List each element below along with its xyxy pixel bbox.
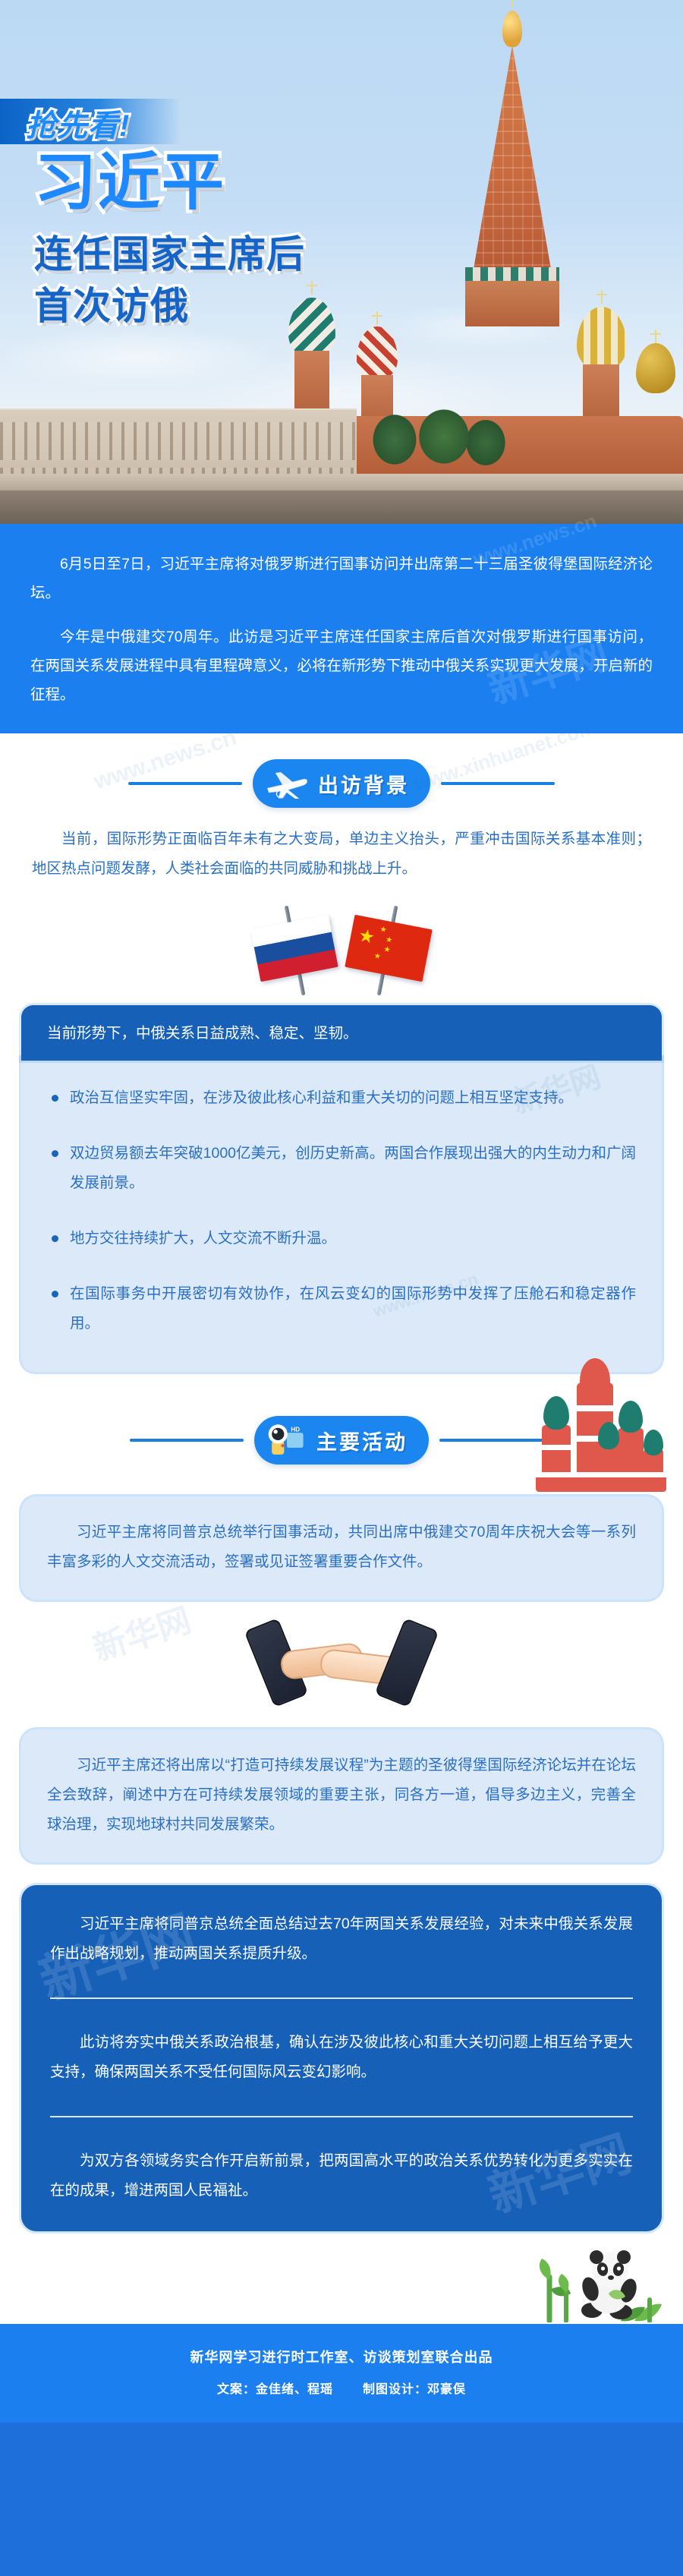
- divider-right: [441, 782, 555, 785]
- section-header-background: www.news.cn www.xinhuanet.com 出访背景: [0, 733, 683, 821]
- ground-strip: [0, 490, 683, 524]
- svg-text:HD: HD: [291, 1427, 300, 1433]
- section-title: 出访背景: [318, 769, 409, 799]
- list-item: 在国际事务中开展密切有效协作，在风云变幻的国际形势中发挥了压舱石和稳定器作用。: [47, 1279, 636, 1338]
- section-pill-activities[interactable]: HD 主要活动: [254, 1416, 429, 1465]
- airplane-icon: [265, 767, 309, 800]
- relations-callout: 当前形势下，中俄关系日益成熟、稳定、坚韧。: [21, 1005, 662, 1061]
- activities-card-2: 习近平主席还将出席以“打造可持续发展议程”为主题的圣彼得堡国际经济论坛并在论坛全…: [21, 1729, 662, 1862]
- footer-credits: 文案：金佳绪、程瑶 制图设计：邓豪俣: [0, 2379, 683, 2397]
- saint-basils-mini-icon: [533, 1366, 669, 1506]
- watermark: 新华网: [86, 1593, 196, 1670]
- red-square-plaza: [0, 474, 683, 490]
- cross-icon: [376, 311, 378, 325]
- russia-flag-icon: [250, 915, 338, 982]
- footer-producer: 新华网学习进行时工作室、访谈策划室联合出品: [0, 2347, 683, 2366]
- summary-paragraph-3: 为双方各领域务实合作开启新前景，把两国高水平的政治关系优势转化为更多实实在在的成…: [50, 2146, 633, 2206]
- page-title: 习近平: [34, 152, 225, 214]
- intro-paragraph-2: 今年是中俄建交70周年。此访是习近平主席连任国家主席后首次对俄罗斯进行国事访问，…: [30, 623, 653, 709]
- section-pill-background[interactable]: 出访背景: [253, 759, 430, 808]
- cross-icon: [311, 281, 313, 295]
- cathedral-main-tower: [455, 0, 569, 326]
- footer: 新华网学习进行时工作室、访谈策划室联合出品 文案：金佳绪、程瑶 制图设计：邓豪俣: [0, 2324, 683, 2423]
- gold-dome: [636, 343, 675, 393]
- cross-icon: [655, 329, 656, 343]
- footer-copywriter: 文案：金佳绪、程瑶: [217, 2383, 333, 2396]
- summary-divider: [50, 1997, 633, 1999]
- background-paragraph: 当前，国际形势正面临百年未有之大变局，单边主义抬头，严重冲击国际关系基本准则；地…: [0, 821, 683, 891]
- list-item: 双边贸易额去年突破1000亿美元，创历史新高。两国合作展现出强大的内生动力和广阔…: [47, 1139, 636, 1198]
- divider-left: [128, 782, 242, 785]
- panda-bamboo-icon: [0, 2231, 683, 2322]
- divider-left: [130, 1439, 244, 1442]
- cross-icon: [511, 0, 513, 8]
- gold-striped-dome: [577, 307, 627, 370]
- list-item: 政治互信坚实牢固，在涉及彼此核心利益和重大关切的问题上相互坚定支持。: [47, 1083, 636, 1113]
- summary-block: 新华网 新华网 习近平主席将同普京总统全面总结过去70年两国关系发展经验，对未来…: [21, 1885, 662, 2231]
- summary-paragraph-2: 此访将夯实中俄关系政治根基，确认在涉及彼此核心和重大关切问题上相互给予更大支持，…: [50, 2028, 633, 2087]
- green-white-dome: [288, 298, 335, 357]
- intro-paragraph-1: 6月5日至7日，习近平主席将对俄罗斯进行国事访问并出席第二十三届圣彼得堡国际经济…: [30, 550, 653, 607]
- tag-label: 抢先看!: [26, 101, 130, 145]
- section-title: 主要活动: [316, 1426, 408, 1455]
- panda-icon: [575, 2250, 648, 2322]
- russia-china-flags-icon: ★ ★ ★ ★ ★: [0, 891, 683, 1005]
- red-white-dome: [357, 326, 398, 380]
- subtitle-line-2: 首次访俄: [34, 287, 189, 325]
- relations-bullets: 政治互信坚实牢固，在涉及彼此核心利益和重大关切的问题上相互坚定支持。 双边贸易额…: [47, 1083, 636, 1338]
- relations-bullet-card: 新华网 www.news.cn 政治互信坚实牢固，在涉及彼此核心利益和重大关切的…: [21, 1058, 662, 1372]
- cross-icon: [601, 290, 603, 304]
- activities-card-1: 习近平主席将同普京总统举行国事活动，共同出席中俄建交70周年庆祝大会等一系列丰富…: [21, 1496, 662, 1600]
- content-body: www.news.cn www.xinhuanet.com 出访背景 当前，国际…: [0, 733, 683, 2324]
- summary-divider: [50, 2116, 633, 2117]
- trees: [372, 402, 508, 474]
- tent-roof: [473, 46, 552, 273]
- subtitle-line-1: 连任国家主席后: [34, 235, 305, 273]
- list-item: 地方交往持续扩大，人文交流不断升温。: [47, 1224, 636, 1253]
- footer-designer: 制图设计：邓豪俣: [363, 2383, 466, 2396]
- china-flag-icon: ★ ★ ★ ★ ★: [345, 915, 432, 982]
- intro-block: www.news.cn 新华网 6月5日至7日，习近平主席将对俄罗斯进行国事访问…: [0, 524, 683, 733]
- section-header-activities: HD 主要活动: [0, 1372, 683, 1478]
- infographic-page: 抢先看! 习近平 连任国家主席后 首次访俄 www.news.cn 新华网 6月…: [0, 0, 683, 2576]
- tower-base: [465, 267, 559, 326]
- golden-dome: [502, 11, 522, 47]
- hero-banner: 抢先看! 习近平 连任国家主席后 首次访俄: [0, 0, 683, 524]
- summary-paragraph-1: 习近平主席将同普京总统全面总结过去70年两国关系发展经验，对未来中俄关系发展作出…: [50, 1909, 633, 1969]
- handshake-phones-icon: 新华网: [0, 1600, 683, 1725]
- camera-hd-icon: HD: [266, 1423, 307, 1458]
